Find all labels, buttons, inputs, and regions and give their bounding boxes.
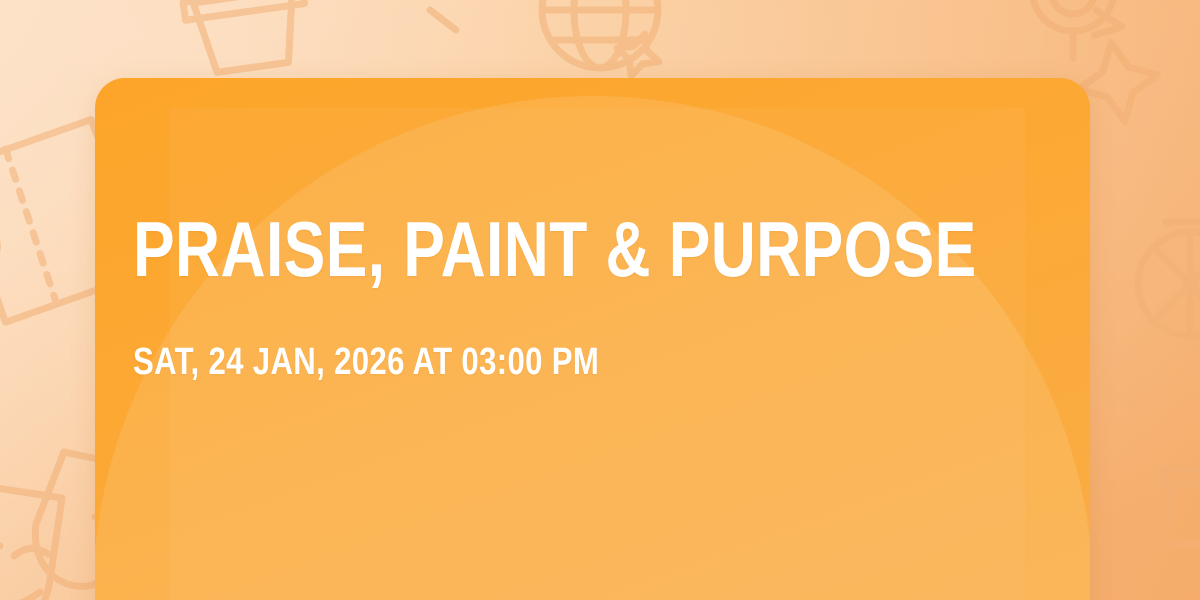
popcorn-icon — [175, 0, 312, 76]
card-content: Praise, Paint & Purpose Sat, 24 Jan, 202… — [133, 78, 1052, 600]
microphone-icon — [1032, 0, 1114, 58]
event-banner: Praise, Paint & Purpose Sat, 24 Jan, 202… — [0, 0, 1200, 600]
confetti-icon — [430, 10, 456, 30]
lantern-icon — [1138, 222, 1200, 336]
event-card[interactable]: Praise, Paint & Purpose Sat, 24 Jan, 202… — [95, 78, 1090, 600]
lantern-icon — [1164, 470, 1200, 544]
event-date: Sat, 24 Jan, 2026 at 03:00 PM — [133, 340, 599, 384]
event-title: Praise, Paint & Purpose — [133, 206, 977, 292]
